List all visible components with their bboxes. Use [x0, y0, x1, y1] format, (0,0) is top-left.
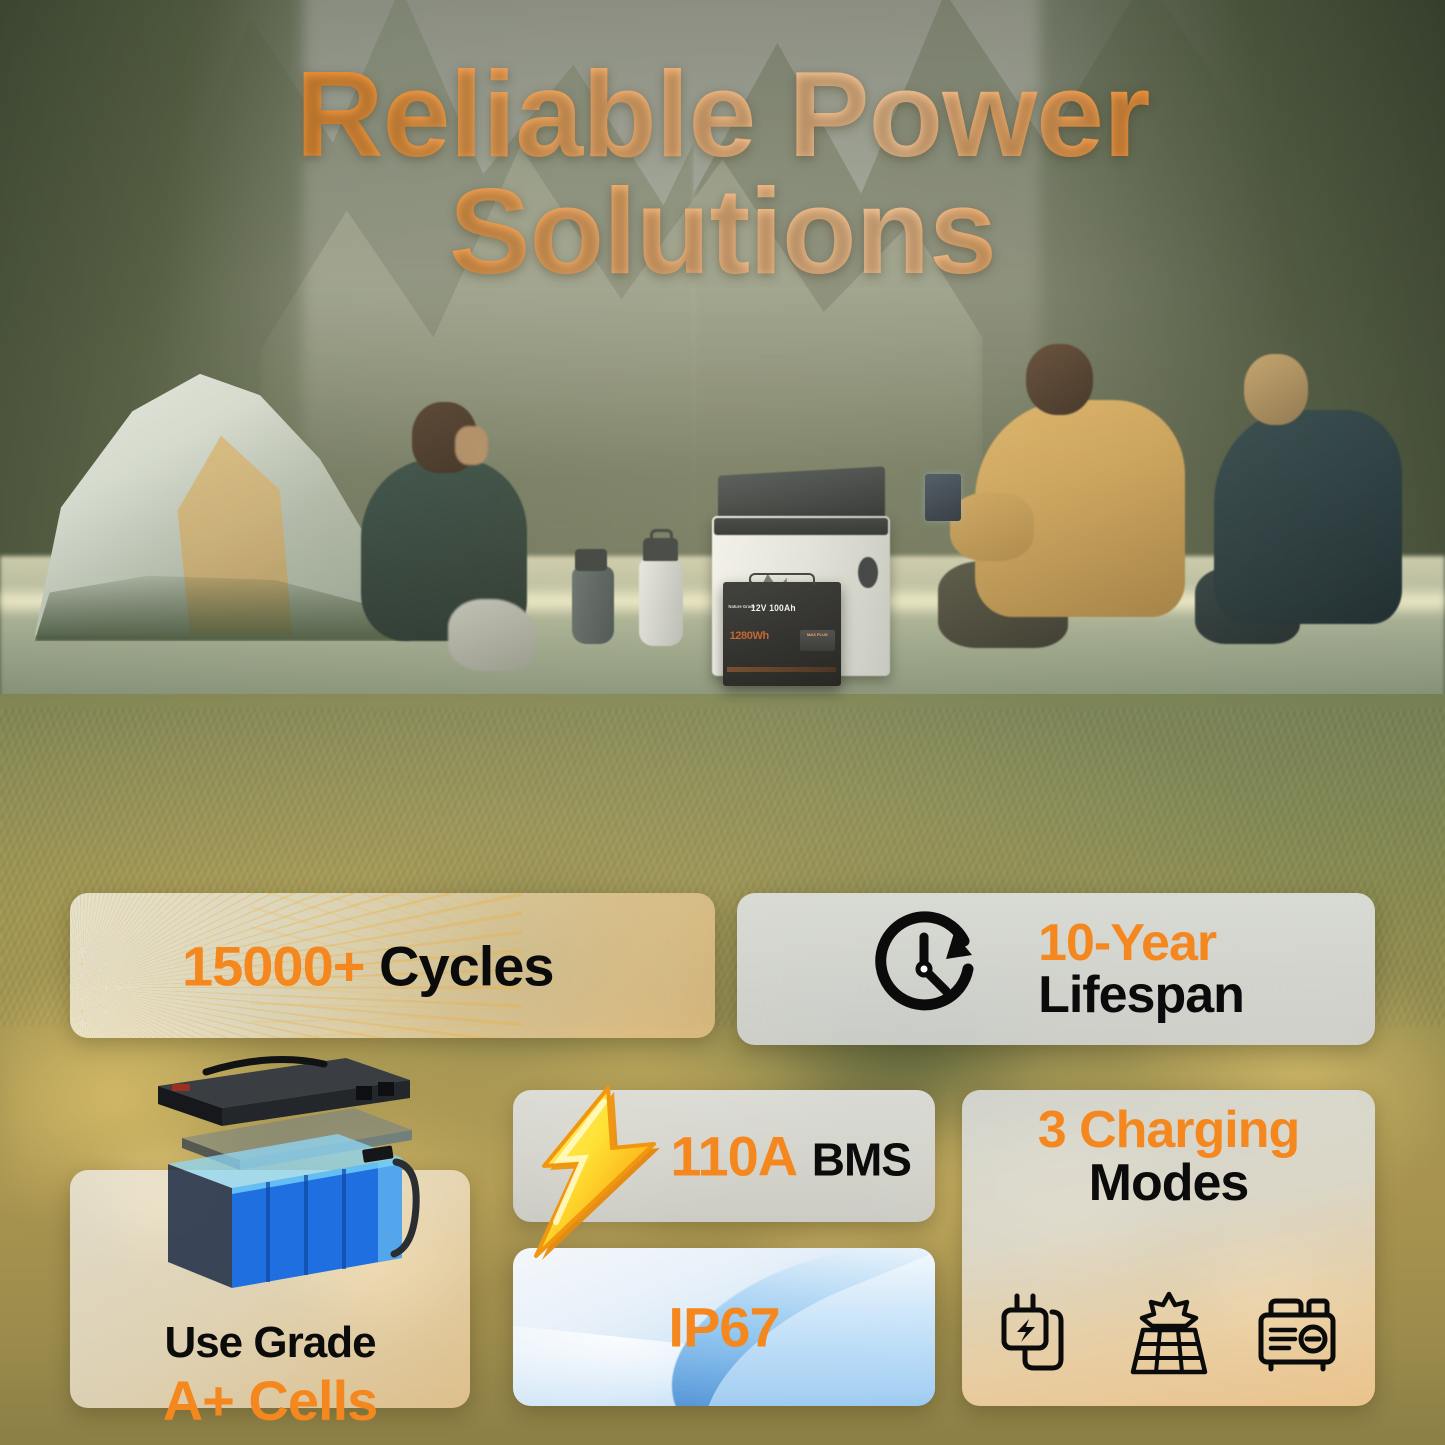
charging-modes-card[interactable]: 3 Charging Modes: [962, 1090, 1375, 1406]
solar-panel-icon: [1123, 1288, 1215, 1380]
lifespan-text: 10-Year Lifespan: [1038, 917, 1244, 1021]
ip67-value: IP67: [668, 1296, 779, 1359]
modes-value: 3 Charging: [962, 1104, 1375, 1157]
cycles-text: 15000+ Cycles: [182, 933, 554, 998]
modes-label: Modes: [962, 1157, 1375, 1210]
cycles-value: 15000+: [182, 934, 364, 997]
cells-value: A+ Cells: [70, 1368, 470, 1433]
feature-card-grid: 15000+ Cycles 10-Year Lifespan: [0, 0, 1445, 1445]
product-feature-graphic: Nature Grade 12V 100Ah 1280Wh MAX PLUS R…: [0, 0, 1445, 1445]
bms-label: BMS: [812, 1134, 911, 1186]
generator-icon: [1251, 1288, 1343, 1380]
modes-text: 3 Charging Modes: [962, 1104, 1375, 1210]
clock-rotate-icon: [868, 911, 992, 1027]
lifespan-value: 10-Year: [1038, 917, 1244, 969]
lifespan-label: Lifespan: [1038, 969, 1244, 1021]
ip67-text: IP67: [513, 1295, 935, 1360]
ip67-card[interactable]: IP67: [513, 1248, 935, 1406]
exploded-battery-cells-icon: [110, 1046, 450, 1306]
cycles-card[interactable]: 15000+ Cycles: [70, 893, 715, 1038]
bms-text: 110A BMS: [670, 1124, 911, 1189]
lifespan-card[interactable]: 10-Year Lifespan: [737, 893, 1375, 1045]
lightning-bolt-icon: [508, 1082, 680, 1260]
bms-value: 110A: [670, 1125, 797, 1188]
cycles-label: Cycles: [379, 934, 554, 997]
ac-plug-icon: [995, 1288, 1087, 1380]
modes-icon-row: [962, 1288, 1375, 1380]
cells-label: Use Grade: [70, 1318, 470, 1368]
cells-text: Use Grade A+ Cells: [70, 1318, 470, 1433]
